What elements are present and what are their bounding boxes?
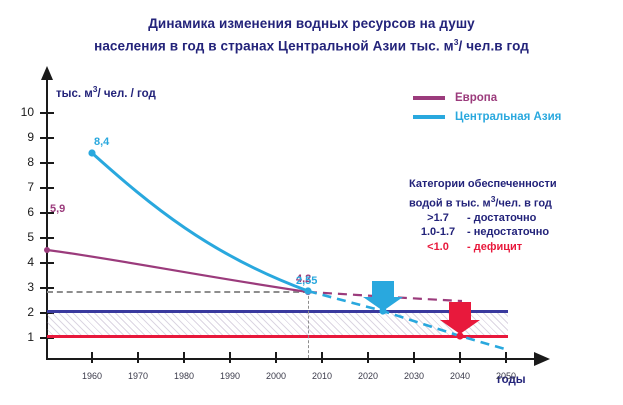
x-label-2050-wrap: 2050 — [484, 366, 528, 384]
central-asia-2007-value-label: 2,55 — [296, 275, 317, 287]
x-label-2030-wrap: 2030 — [392, 366, 436, 384]
x-tick-2010 — [321, 352, 323, 363]
category-row-insufficient: 1.0-1.7 - недостаточно — [409, 225, 557, 240]
legend-item-central-asia[interactable]: Центральная Азия — [413, 109, 561, 125]
central-asia-solid-curve — [92, 153, 308, 291]
legend-label-europe: Европа — [455, 92, 497, 104]
category-row-sufficient: >1.7 - достаточно — [409, 211, 557, 226]
x-label-2000-wrap: 2000 — [254, 366, 298, 384]
x-tick-1980 — [183, 352, 185, 363]
x-label-2000: 2000 — [266, 371, 286, 381]
category-range-deficit: <1.0 — [409, 240, 467, 255]
x-label-2020: 2020 — [358, 371, 378, 381]
central-asia-point-1960 — [88, 149, 95, 156]
central-asia-point-2007 — [304, 287, 311, 294]
category-range-sufficient: >1.7 — [409, 211, 467, 226]
legend-label-central-asia: Центральная Азия — [455, 111, 561, 123]
europe-point-1955 — [44, 247, 50, 253]
category-range-insufficient: 1.0-1.7 — [409, 225, 467, 240]
x-label-2030: 2030 — [404, 371, 424, 381]
category-label-insufficient: - недостаточно — [467, 225, 549, 240]
x-label-1970: 1970 — [128, 371, 148, 381]
x-tick-2020 — [367, 352, 369, 363]
chart-legend: Европа Центральная Азия — [413, 90, 561, 128]
category-header-line1: Категории обеспеченности — [409, 177, 557, 192]
x-label-1960: 1960 — [82, 371, 102, 381]
category-header-line2: водой в тыс. м3/чел. в год — [409, 192, 557, 211]
x-tick-1990 — [229, 352, 231, 363]
x-label-2010: 2010 — [312, 371, 332, 381]
chart-canvas: Динамика изменения водных ресурсов на ду… — [0, 0, 623, 405]
x-label-1980: 1980 — [174, 371, 194, 381]
x-label-2040: 2040 — [450, 371, 470, 381]
category-legend: Категории обеспеченности водой в тыс. м3… — [409, 177, 557, 254]
legend-item-europe[interactable]: Европа — [413, 90, 561, 106]
x-label-2040-wrap: 2040 — [438, 366, 482, 384]
x-label-1990: 1990 — [220, 371, 240, 381]
europe-start-value-label: 5,9 — [50, 203, 65, 215]
europe-solid-curve — [47, 250, 308, 292]
x-tick-2030 — [413, 352, 415, 363]
x-tick-1960 — [91, 352, 93, 363]
x-tick-1970 — [137, 352, 139, 363]
x-label-1980-wrap: 1980 — [162, 366, 206, 384]
x-label-1990-wrap: 1990 — [208, 366, 252, 384]
legend-swatch-europe-icon — [413, 96, 445, 100]
category-label-deficit: - дефицит — [467, 240, 522, 255]
x-tick-2000 — [275, 352, 277, 363]
x-label-2020-wrap: 2020 — [346, 366, 390, 384]
x-label-1970-wrap: 1970 — [116, 366, 160, 384]
legend-swatch-central-asia-icon — [413, 115, 445, 119]
x-tick-2050 — [505, 352, 507, 363]
x-label-1960-wrap: 1960 — [70, 366, 114, 384]
category-label-sufficient: - достаточно — [467, 211, 536, 226]
x-tick-2040 — [459, 352, 461, 363]
x-label-2010-wrap: 2010 — [300, 366, 344, 384]
x-label-2050: 2050 — [496, 371, 516, 381]
category-row-deficit: <1.0 - дефицит — [409, 240, 557, 255]
central-asia-start-value-label: 8,4 — [94, 136, 109, 148]
